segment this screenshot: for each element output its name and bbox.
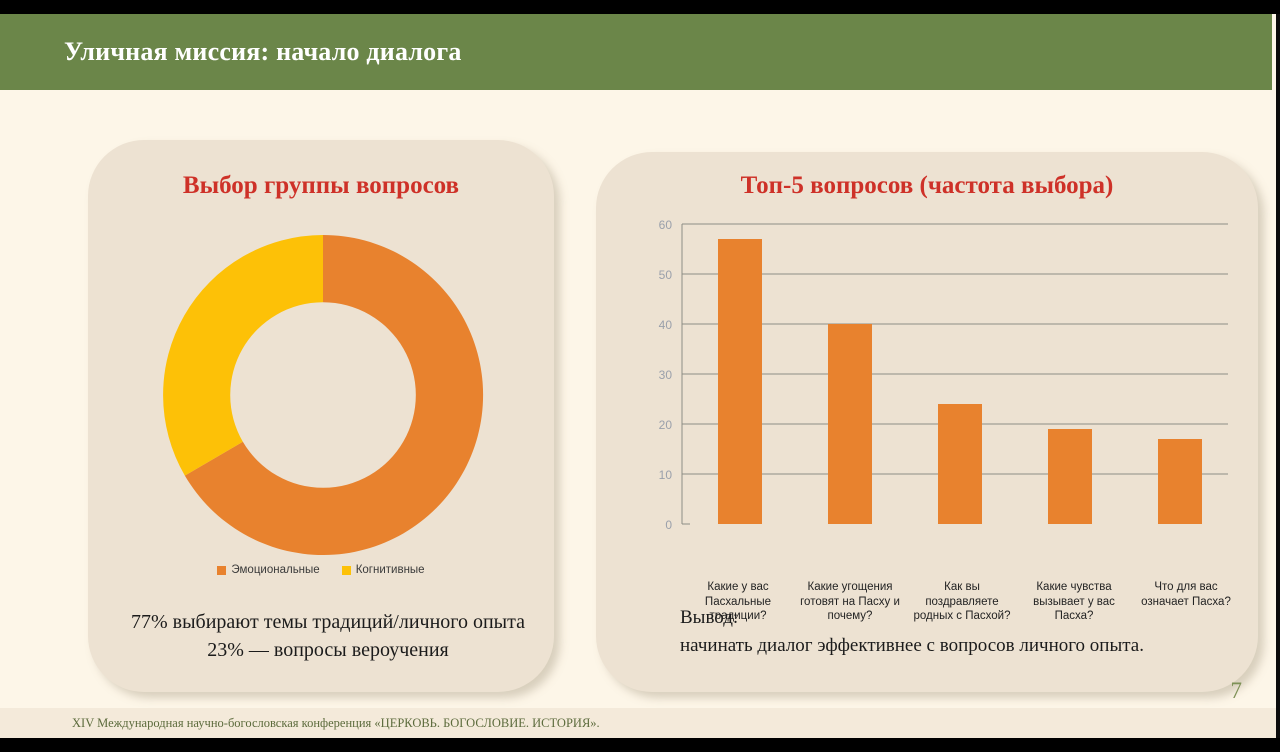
bar-4 xyxy=(1048,429,1092,524)
right-note-line-1: Вывод: xyxy=(680,604,1240,632)
right-card-top5-questions: Топ-5 вопросов (частота выбора) 60 50 xyxy=(596,152,1258,692)
bar-chart-svg: 60 50 40 30 20 10 0 xyxy=(620,214,1240,632)
y-tick-60: 60 xyxy=(659,218,673,232)
y-tick-20: 20 xyxy=(659,418,673,432)
y-tick-30: 30 xyxy=(659,368,673,382)
bar-1 xyxy=(718,239,762,524)
y-tick-50: 50 xyxy=(659,268,673,282)
right-card-notes: Вывод: начинать диалог эффективнее с воп… xyxy=(680,604,1240,659)
page-number: 7 xyxy=(1231,678,1243,704)
left-note-line-1: 77% выбирают темы традиций/личного опыта xyxy=(108,608,548,636)
left-note-line-2: 23% — вопросы вероучения xyxy=(108,636,548,664)
legend-swatch-cognitive-icon xyxy=(342,566,351,575)
slide: Уличная миссия: начало диалога Выбор гру… xyxy=(0,0,1280,752)
donut-chart-svg xyxy=(143,232,503,558)
donut-legend: Эмоциональные Когнитивные xyxy=(88,564,554,576)
y-tick-0: 0 xyxy=(665,518,672,532)
bar-chart-bars xyxy=(718,239,1202,524)
donut-chart xyxy=(143,232,503,558)
donut-slice-cognitive xyxy=(163,235,323,476)
bar-2 xyxy=(828,324,872,524)
legend-item-emotional: Эмоциональные xyxy=(217,564,319,576)
right-card-title: Топ-5 вопросов (частота выбора) xyxy=(596,172,1258,200)
bar-chart-y-ticks: 60 50 40 30 20 10 0 xyxy=(659,218,673,532)
legend-swatch-emotional-icon xyxy=(217,566,226,575)
right-note-line-2: начинать диалог эффективнее с вопросов л… xyxy=(680,632,1240,660)
legend-item-cognitive: Когнитивные xyxy=(342,564,425,576)
page-title: Уличная миссия: начало диалога xyxy=(64,37,462,67)
bar-chart: 60 50 40 30 20 10 0 Какие xyxy=(620,214,1240,632)
bottom-letterbox-bar xyxy=(0,738,1280,752)
left-card-questions-group: Выбор группы вопросов Эмоциональные Когн… xyxy=(88,140,554,692)
right-letterbox-bar xyxy=(1276,14,1280,738)
legend-label-cognitive: Когнитивные xyxy=(356,564,425,576)
y-tick-40: 40 xyxy=(659,318,673,332)
y-tick-10: 10 xyxy=(659,468,673,482)
left-card-notes: 77% выбирают темы традиций/личного опыта… xyxy=(108,608,548,665)
top-letterbox-bar xyxy=(0,0,1280,14)
footer-conference-text: XIV Международная научно-богословская ко… xyxy=(72,716,600,731)
bar-5 xyxy=(1158,439,1202,524)
legend-label-emotional: Эмоциональные xyxy=(231,564,319,576)
bar-3 xyxy=(938,404,982,524)
left-card-title: Выбор группы вопросов xyxy=(88,172,554,200)
